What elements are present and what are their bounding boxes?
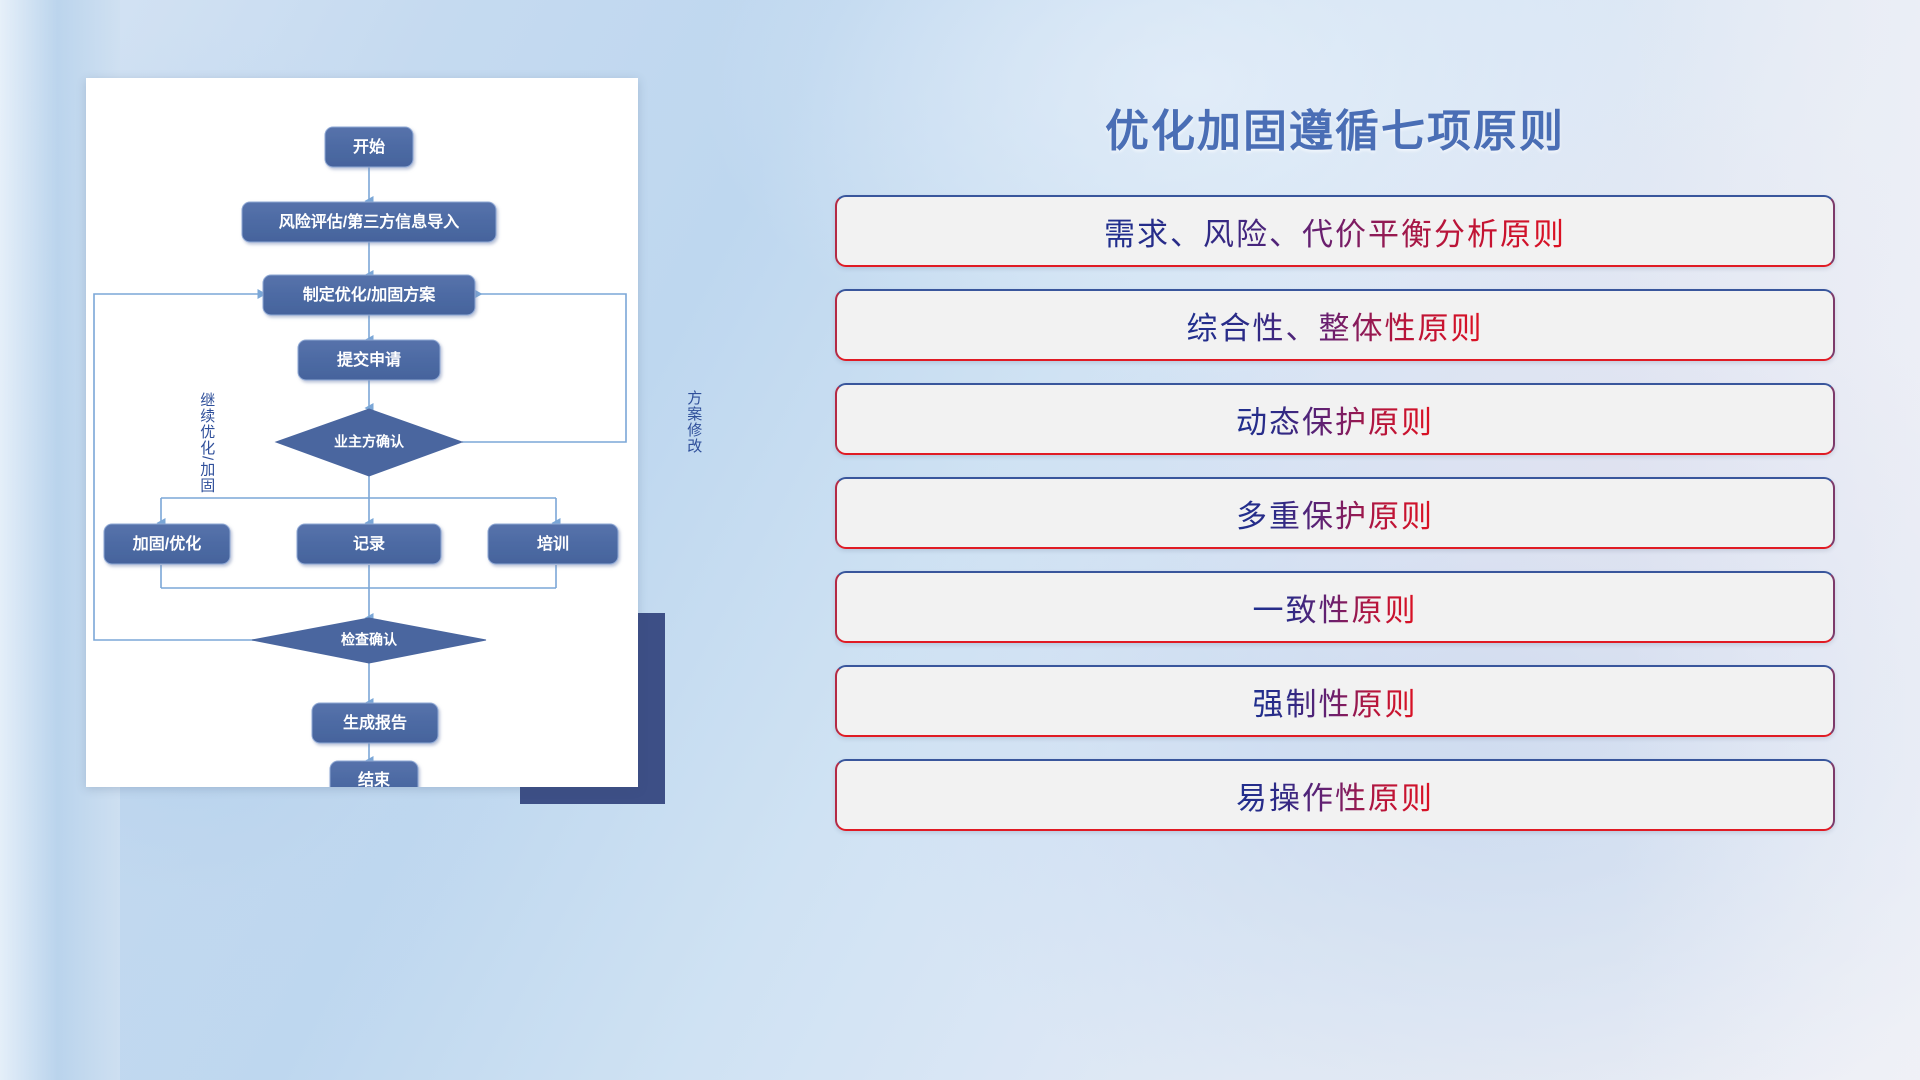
flow-node-training: 培训: [488, 524, 618, 564]
flow-node-owner-confirm-label: 业主方确认: [334, 434, 405, 450]
principle-card-1-label: 需求、风险、代价平衡分析原则: [1104, 209, 1566, 254]
flow-node-start: 开始: [325, 127, 413, 167]
principle-card-2-label: 综合性、整体性原则: [1187, 303, 1484, 348]
principle-card-1[interactable]: 需求、风险、代价平衡分析原则: [835, 195, 1835, 267]
flow-node-report: 生成报告: [312, 703, 438, 743]
flow-node-training-label: 培训: [537, 534, 569, 553]
flowchart-left-loop-label: 继续优化/加固: [198, 392, 215, 493]
flowchart-diagram: 开始 风险评估/第三方信息导入 制定优化/加固方案 提交申请 业主方确认 加固/…: [86, 78, 638, 787]
flow-node-risk-assessment-label: 风险评估/第三方信息导入: [279, 212, 459, 231]
principle-card-6[interactable]: 强制性原则: [835, 665, 1835, 737]
flow-node-plan: 制定优化/加固方案: [263, 275, 475, 315]
flow-node-check-confirm: 检查确认: [252, 618, 486, 663]
flow-node-submit-label: 提交申请: [337, 350, 401, 369]
flow-node-reinforce-label: 加固/优化: [132, 534, 201, 553]
principles-panel: 优化加固遵循七项原则 需求、风险、代价平衡分析原则 综合性、整体性原则 动态保护…: [835, 70, 1835, 1030]
flow-node-report-label: 生成报告: [343, 713, 407, 732]
flow-node-risk-assessment: 风险评估/第三方信息导入: [242, 202, 496, 242]
flow-node-start-label: 开始: [353, 137, 385, 156]
principle-card-4[interactable]: 多重保护原则: [835, 477, 1835, 549]
principle-card-4-label: 多重保护原则: [1236, 491, 1434, 536]
flow-node-plan-label: 制定优化/加固方案: [303, 285, 436, 304]
principle-card-3[interactable]: 动态保护原则: [835, 383, 1835, 455]
flowchart-panel: 开始 风险评估/第三方信息导入 制定优化/加固方案 提交申请 业主方确认 加固/…: [86, 78, 638, 787]
flow-node-check-confirm-label: 检查确认: [341, 632, 398, 648]
principle-card-5[interactable]: 一致性原则: [835, 571, 1835, 643]
flow-node-end-label: 结束: [357, 770, 391, 787]
principle-card-7[interactable]: 易操作性原则: [835, 759, 1835, 831]
flow-node-reinforce: 加固/优化: [104, 524, 230, 564]
flowchart-right-loop-label: 方案修改: [685, 390, 702, 454]
panel-title: 优化加固遵循七项原则: [835, 95, 1835, 159]
flow-node-end: 结束: [330, 761, 418, 787]
principle-card-7-label: 易操作性原则: [1236, 773, 1434, 818]
flow-node-submit: 提交申请: [298, 340, 440, 380]
flow-node-owner-confirm: 业主方确认: [276, 409, 462, 476]
principle-card-3-label: 动态保护原则: [1236, 397, 1434, 442]
flow-node-record-label: 记录: [353, 535, 385, 553]
principle-card-6-label: 强制性原则: [1253, 679, 1418, 724]
principle-card-5-label: 一致性原则: [1253, 585, 1418, 630]
principle-card-2[interactable]: 综合性、整体性原则: [835, 289, 1835, 361]
flow-node-record: 记录: [297, 524, 441, 564]
principles-list: 需求、风险、代价平衡分析原则 综合性、整体性原则 动态保护原则 多重保护原则 一…: [835, 195, 1835, 853]
